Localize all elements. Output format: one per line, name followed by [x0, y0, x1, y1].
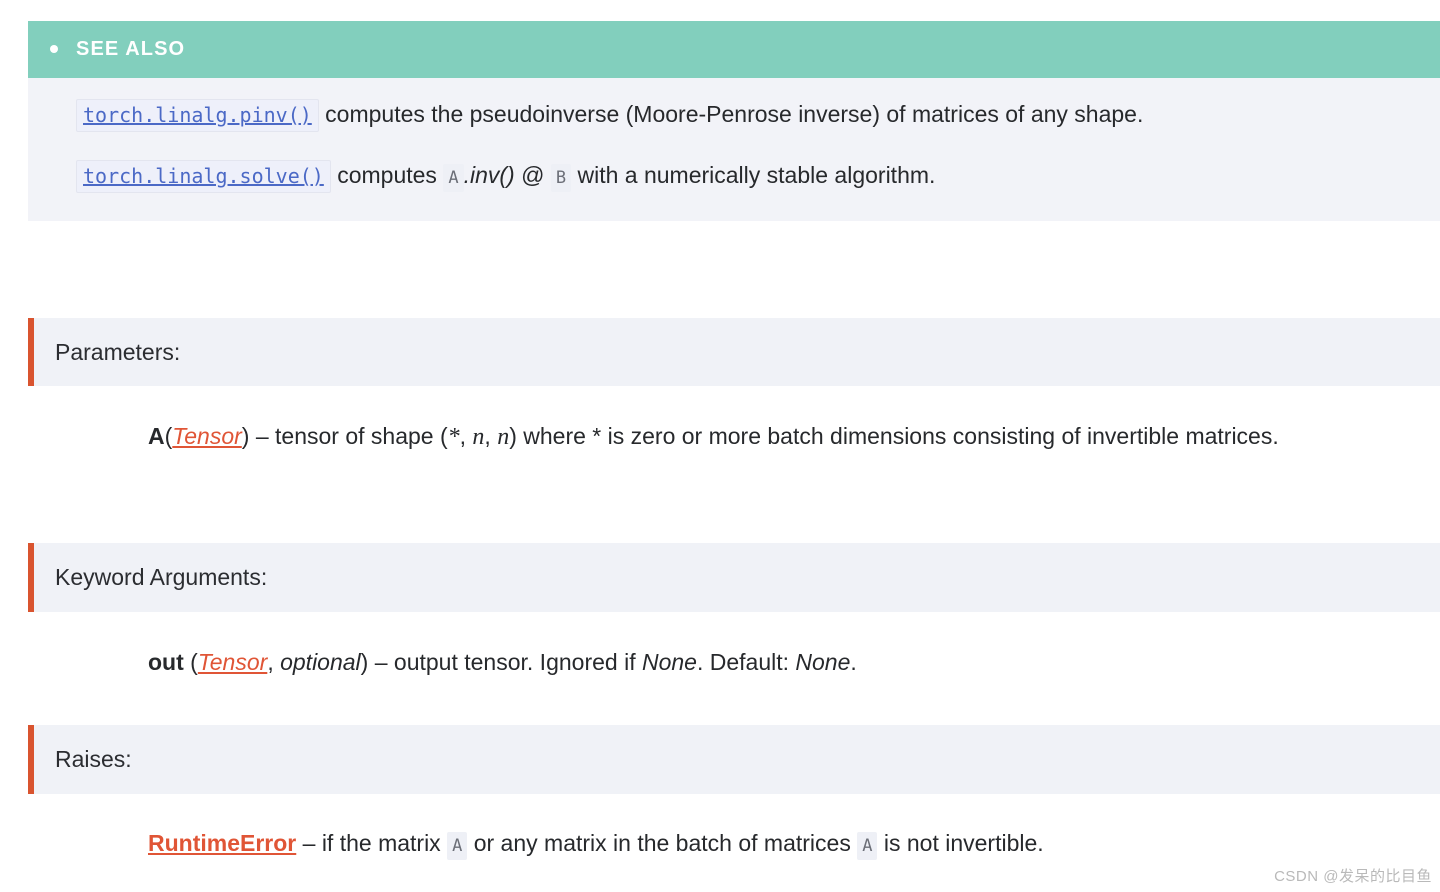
kwarg-none-1: None: [642, 649, 697, 675]
param-dash: –: [249, 423, 275, 449]
raises-body: RuntimeError – if the matrix A or any ma…: [148, 827, 1440, 860]
field-label-parameters: Parameters:: [28, 318, 1440, 386]
link-runtime-error[interactable]: RuntimeError: [148, 830, 296, 856]
param-comma-1: ,: [460, 423, 473, 449]
parameters-body: A(Tensor) – tensor of shape (*, n, n) wh…: [148, 420, 1440, 454]
see-also-header: SEE ALSO: [28, 21, 1440, 78]
link-tensor-type-out[interactable]: Tensor: [198, 649, 267, 675]
kwarg-comma: ,: [267, 649, 280, 675]
see-also-solve-inv: .inv(): [464, 162, 515, 188]
kwarg-desc: – output tensor. Ignored if: [368, 649, 642, 675]
see-also-item-pinv-text: computes the pseudoinverse (Moore-Penros…: [319, 101, 1144, 127]
param-var-n1: n: [472, 424, 484, 450]
param-comma-2: ,: [484, 423, 497, 449]
raises-text-1: – if the matrix: [296, 830, 447, 856]
see-also-admonition: SEE ALSO torch.linalg.pinv() computes th…: [28, 21, 1440, 221]
parameters-label: Parameters:: [55, 339, 180, 366]
csdn-watermark: CSDN @发呆的比目鱼: [1274, 865, 1432, 886]
see-also-body: torch.linalg.pinv() computes the pseudoi…: [28, 78, 1440, 221]
param-desc-2: ) where * is zero or more batch dimensio…: [509, 423, 1279, 449]
see-also-solve-at: @: [515, 162, 551, 188]
link-torch-linalg-pinv[interactable]: torch.linalg.pinv(): [76, 99, 319, 132]
inline-code-b: B: [551, 164, 571, 192]
inline-code-b-raises: A: [857, 832, 877, 860]
inline-code-a-raises: A: [447, 832, 467, 860]
raises-label: Raises:: [55, 746, 132, 773]
raises-text-3: is not invertible.: [877, 830, 1043, 856]
keyword-arguments-body: out (Tensor, optional) – output tensor. …: [148, 646, 1440, 679]
param-desc-1: tensor of shape (: [275, 423, 448, 449]
see-also-title: SEE ALSO: [76, 39, 185, 59]
param-name-a: A: [148, 423, 165, 449]
keyword-arguments-label: Keyword Arguments:: [55, 564, 267, 591]
kwarg-optional: optional: [280, 649, 361, 675]
kwarg-mid: . Default:: [697, 649, 795, 675]
inline-code-a: A: [443, 164, 463, 192]
see-also-solve-text-before: computes: [331, 162, 444, 188]
kwarg-open-paren: (: [184, 649, 198, 675]
field-label-keyword-arguments: Keyword Arguments:: [28, 543, 1440, 612]
kwarg-end: .: [850, 649, 856, 675]
see-also-solve-text-after: with a numerically stable algorithm.: [571, 162, 935, 188]
field-label-raises: Raises:: [28, 725, 1440, 794]
raises-text-2: or any matrix in the batch of matrices: [467, 830, 857, 856]
kwarg-name-out: out: [148, 649, 184, 675]
link-tensor-type[interactable]: Tensor: [172, 423, 241, 449]
see-also-item-solve: torch.linalg.solve() computes A.inv() @ …: [76, 157, 1420, 194]
bullet-dot-icon: [50, 45, 58, 53]
see-also-item-pinv: torch.linalg.pinv() computes the pseudoi…: [76, 96, 1420, 133]
param-var-n2: n: [497, 424, 509, 450]
param-var-star: *: [448, 424, 460, 450]
link-torch-linalg-solve[interactable]: torch.linalg.solve(): [76, 160, 331, 193]
kwarg-none-2: None: [795, 649, 850, 675]
